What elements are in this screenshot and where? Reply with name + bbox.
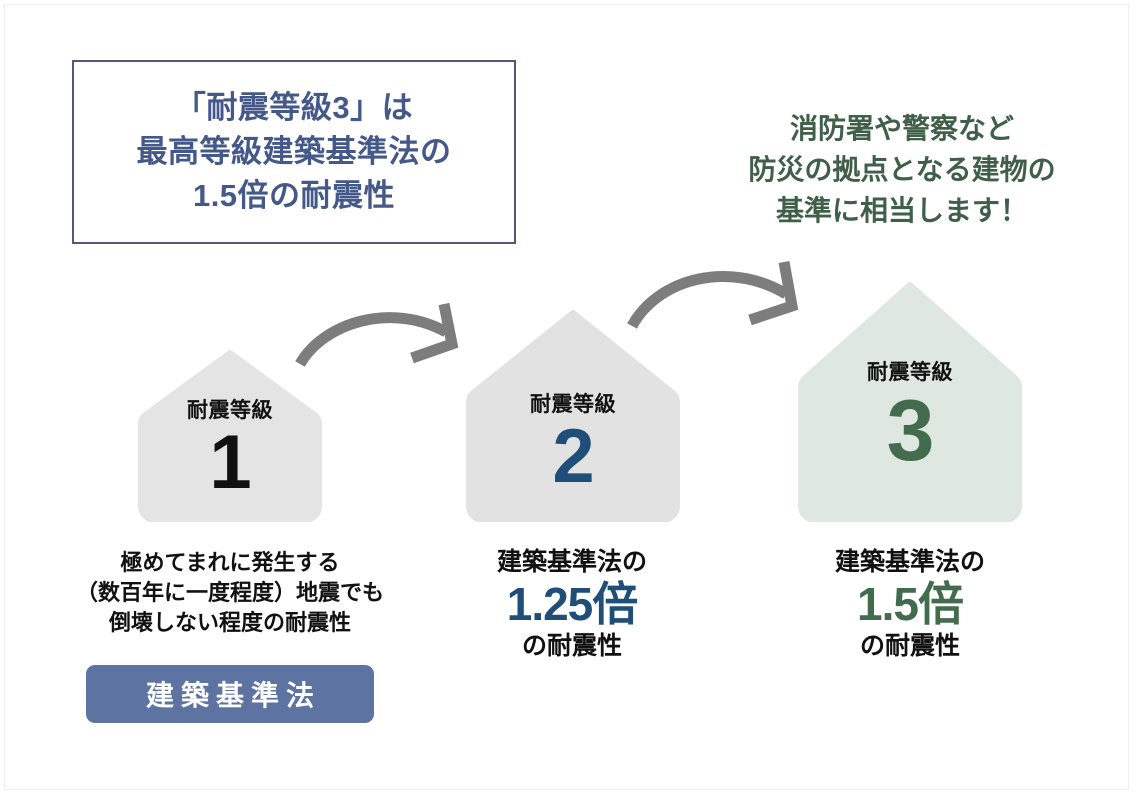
headline-line-2: 最高等級建築基準法の (137, 130, 452, 174)
caption-2-multiplier: 1.25倍 (452, 578, 692, 630)
caption-grade-3: 建築基準法の 1.5倍 の耐震性 (788, 546, 1032, 662)
house-grade-1: 耐震等級 1 (138, 350, 322, 522)
caption-1-line-3: 倒壊しない程度の耐震性 (50, 608, 410, 638)
headline-box: 「耐震等級3」は 最高等級建築基準法の 1.5倍の耐震性 (72, 60, 516, 244)
green-note: 消防署や警察など 防災の拠点となる建物の 基準に相当します！ (712, 108, 1092, 231)
house-3-number: 3 (798, 386, 1022, 476)
house-grade-3: 耐震等級 3 (798, 282, 1022, 522)
house-2-number: 2 (466, 418, 680, 496)
caption-3-bottom: の耐震性 (788, 630, 1032, 662)
headline-line-1: 「耐震等級3」は (175, 86, 413, 130)
caption-grade-2: 建築基準法の 1.25倍 の耐震性 (452, 546, 692, 662)
curved-arrow-icon-1 (294, 296, 484, 382)
house-1-content: 耐震等級 1 (138, 398, 322, 502)
building-standards-law-badge: 建築基準法 (86, 665, 374, 723)
caption-1-line-1: 極めてまれに発生する (50, 548, 410, 578)
caption-2-top: 建築基準法の (452, 546, 692, 578)
caption-3-top: 建築基準法の (788, 546, 1032, 578)
green-note-line-1: 消防署や警察など (712, 108, 1092, 149)
house-1-number: 1 (138, 424, 322, 502)
green-note-line-2: 防災の拠点となる建物の (712, 149, 1092, 190)
law-badge-label: 建築基準法 (139, 674, 321, 714)
house-2-content: 耐震等級 2 (466, 392, 680, 496)
caption-grade-1: 極めてまれに発生する （数百年に一度程度）地震でも 倒壊しない程度の耐震性 (50, 548, 410, 638)
caption-2-bottom: の耐震性 (452, 630, 692, 662)
house-grade-2: 耐震等級 2 (466, 310, 680, 522)
house-3-content: 耐震等級 3 (798, 360, 1022, 476)
caption-1-line-2: （数百年に一度程度）地震でも (50, 578, 410, 608)
green-note-line-3: 基準に相当します！ (712, 190, 1092, 231)
infographic-canvas: 「耐震等級3」は 最高等級建築基準法の 1.5倍の耐震性 消防署や警察など 防災… (0, 0, 1137, 800)
caption-3-multiplier: 1.5倍 (788, 578, 1032, 630)
headline-line-3: 1.5倍の耐震性 (193, 174, 395, 218)
